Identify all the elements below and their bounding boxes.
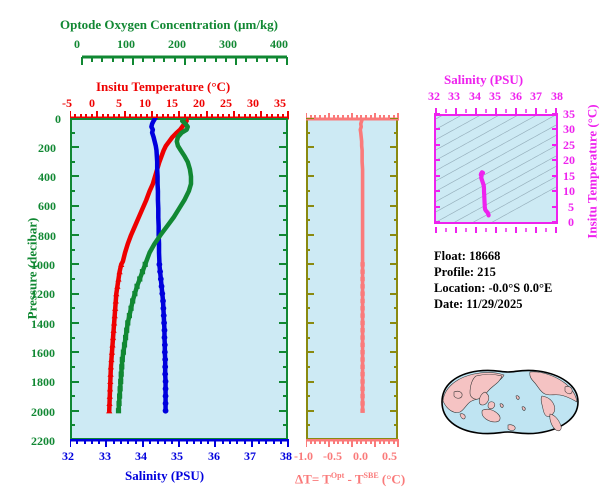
oxygen-tick-0: 0 [74,38,80,50]
world-map[interactable] [430,352,590,452]
ts-xtick-38: 38 [551,90,563,102]
ts-y-axis-title: Insitu Temperature (°C) [586,97,599,247]
ts-xtick-36: 36 [510,90,522,102]
sal-tick-34: 34 [135,450,147,462]
pressure-tick-800: 800 [38,230,56,242]
delta-t-data-curve [306,118,398,440]
ts-frame-ticks [434,108,558,234]
temp-tick-30: 30 [247,97,259,109]
ts-ytick-10: 10 [563,185,575,197]
sal-tick-38: 38 [280,450,292,462]
dt-tick-0: 0.0 [353,450,368,462]
ts-xtick-33: 33 [448,90,460,102]
metadata-profile-row: Profile: 215 [434,264,552,280]
temp-tick-10: 10 [139,97,151,109]
temp-tick-25: 25 [220,97,232,109]
metadata-location-label: Location: [434,281,485,295]
sal-tick-37: 37 [244,450,256,462]
ts-ytick-0: 0 [568,216,574,228]
temp-tick-0: 0 [89,97,95,109]
delta-t-title-prefix: ΔT= T [295,471,331,486]
metadata-block: Float: 18668 Profile: 215 Location: -0.0… [434,248,552,312]
ts-ytick-5: 5 [568,201,574,213]
metadata-date-label: Date: [434,297,463,311]
temp-tick-35: 35 [274,97,286,109]
oxygen-axis-title: Optode Oxygen Concentration (µm/kg) [60,18,278,31]
oxygen-axis-line [81,55,288,67]
oxygen-tick-100: 100 [117,38,135,50]
temperature-axis-title: Insitu Temperature (°C) [96,80,230,93]
dt-tick-05: 0.5 [382,450,397,462]
oxygen-tick-300: 300 [219,38,237,50]
ts-ytick-30: 30 [563,123,575,135]
metadata-date-value: 11/29/2025 [466,297,522,311]
metadata-float-value: 18668 [469,249,500,263]
ts-xtick-32: 32 [428,90,440,102]
ts-ytick-25: 25 [563,139,575,151]
ts-xtick-35: 35 [489,90,501,102]
delta-t-title-sup-sbe: SBE [364,471,379,480]
sal-tick-32: 32 [62,450,74,462]
metadata-float-row: Float: 18668 [434,248,552,264]
delta-t-title-sup-opt: Opt [331,471,344,480]
metadata-date-row: Date: 11/29/2025 [434,296,552,312]
delta-t-title-suffix: (°C) [379,471,406,486]
profile-data-curves [70,118,288,440]
metadata-location-value: -0.0°S 0.0°E [489,281,553,295]
temp-tick-5: 5 [116,97,122,109]
ts-xtick-34: 34 [469,90,481,102]
oxygen-tick-200: 200 [168,38,186,50]
delta-t-bottom-axis [306,439,399,449]
ts-ytick-35: 35 [563,108,575,120]
delta-t-title-mid: - T [344,471,363,486]
pressure-tick-0: 0 [55,113,61,125]
pressure-tick-1800: 1800 [31,376,55,388]
oxygen-tick-400: 400 [270,38,288,50]
delta-t-axis-title: ΔT= TOpt - TSBE (°C) [295,469,405,485]
sal-tick-35: 35 [171,450,183,462]
dt-tick-m1: -1.0 [294,450,313,462]
temp-tick-15: 15 [166,97,178,109]
metadata-float-label: Float: [434,249,466,263]
ts-ytick-15: 15 [563,170,575,182]
pressure-tick-200: 200 [38,142,56,154]
pressure-axis-title: Pressure (decibar) [26,189,39,349]
pressure-tick-1600: 1600 [31,347,55,359]
pressure-tick-600: 600 [38,200,56,212]
ts-ytick-20: 20 [563,154,575,166]
ts-xtick-37: 37 [530,90,542,102]
pressure-tick-2200: 2200 [31,435,55,447]
sal-tick-36: 36 [208,450,220,462]
salinity-axis-line [70,439,289,449]
temp-tick-20: 20 [193,97,205,109]
dt-tick-m05: -0.5 [323,450,342,462]
sal-tick-33: 33 [99,450,111,462]
metadata-profile-value: 215 [477,265,496,279]
metadata-profile-label: Profile: [434,265,474,279]
pressure-tick-2000: 2000 [31,406,55,418]
temp-tick-m5: -5 [62,97,72,109]
pressure-tick-400: 400 [38,171,56,183]
metadata-location-row: Location: -0.0°S 0.0°E [434,280,552,296]
salinity-axis-title: Salinity (PSU) [125,469,204,482]
ts-title: Salinity (PSU) [444,73,523,86]
